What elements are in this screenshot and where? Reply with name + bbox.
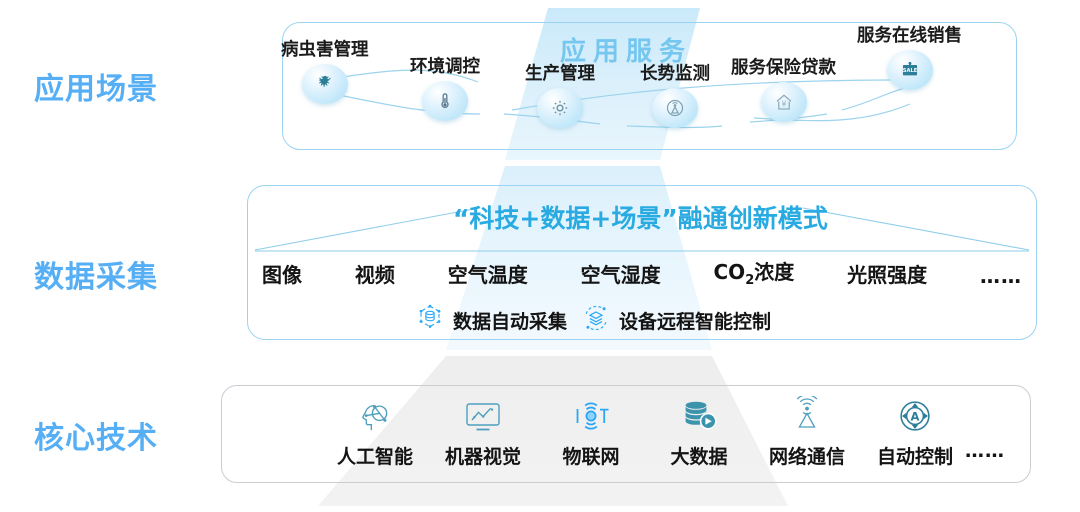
data-features: 数据自动采集 设备远程智能控制 (415, 303, 771, 337)
tech-item-ai[interactable]: 人工智能 (330, 392, 420, 469)
tech-item-label: 自动控制 (877, 442, 953, 469)
scene-node-label: 环境调控 (410, 59, 480, 77)
data-feature-label: 数据自动采集 (453, 307, 567, 334)
scene-node-online-sales[interactable]: 服务在线销售 SALE (857, 28, 962, 90)
data-term: 图像 (262, 259, 302, 288)
tech-items-ellipsis: …… (965, 440, 1005, 462)
tech-item-iot[interactable]: 物联网 (546, 392, 636, 469)
svg-text:SALE: SALE (902, 68, 917, 74)
data-term: 空气温度 (448, 259, 528, 288)
row-label-data: 数据采集 (34, 252, 158, 296)
data-terms-ellipsis: …… (980, 264, 1022, 288)
data-title: “科技+数据+场景”融通创新模式 (453, 199, 828, 235)
scene-node-label: 病虫害管理 (281, 42, 369, 60)
data-term-co2: CO2浓度 (714, 256, 795, 288)
layers-network-icon (581, 303, 611, 337)
tech-item-label: 机器视觉 (445, 442, 521, 469)
tech-item-network-comm[interactable]: 网络通信 (762, 392, 852, 469)
tech-item-label: 网络通信 (769, 442, 845, 469)
thermometer-icon (422, 81, 468, 121)
tech-item-auto-control[interactable]: A 自动控制 (870, 392, 960, 469)
tech-item-big-data[interactable]: 大数据 (654, 392, 744, 469)
tech-items-list: 人工智能 机器视觉 (330, 392, 960, 469)
antenna-icon (785, 392, 829, 440)
tech-item-label: 大数据 (670, 442, 727, 469)
iot-icon (568, 392, 614, 440)
scene-node-production-management[interactable]: 生产管理 (525, 66, 595, 128)
scene-node-label: 服务保险贷款 (731, 60, 836, 78)
ai-head-icon (354, 392, 396, 440)
diagram-root: 应用场景 应用服务 病虫害管理 环境调控 (0, 0, 1080, 512)
data-term: 视频 (355, 259, 395, 288)
scene-node-pest-management[interactable]: 病虫害管理 (281, 42, 369, 104)
scene-node-insurance-loan[interactable]: 服务保险贷款 ¥ (731, 60, 836, 122)
scene-node-label: 生产管理 (525, 66, 595, 84)
row-label-scene: 应用场景 (34, 64, 158, 108)
svg-text:A: A (911, 410, 920, 424)
scene-node-environment-control[interactable]: 环境调控 (410, 59, 480, 121)
scene-title: 应用服务 (560, 31, 692, 68)
row-label-tech: 核心技术 (34, 413, 158, 457)
scene-node-label: 服务在线销售 (857, 28, 962, 46)
scene-node-label: 长势监测 (640, 66, 710, 84)
svg-text:¥: ¥ (781, 99, 786, 108)
auto-control-icon: A (894, 392, 936, 440)
house-yen-icon: ¥ (761, 82, 807, 122)
database-network-icon (415, 303, 445, 337)
data-term: 光照强度 (847, 259, 927, 288)
tech-item-machine-vision[interactable]: 机器视觉 (438, 392, 528, 469)
tech-item-label: 人工智能 (337, 442, 413, 469)
sale-tag-icon: SALE (887, 50, 933, 90)
data-term: 空气湿度 (581, 259, 661, 288)
data-feature-label: 设备远程智能控制 (619, 307, 771, 334)
monitor-chart-icon (461, 392, 505, 440)
gear-icon (537, 88, 583, 128)
scene-node-growth-monitoring[interactable]: 长势监测 (640, 66, 710, 128)
data-feature-auto-collection[interactable]: 数据自动采集 (415, 303, 567, 337)
bug-icon (302, 64, 348, 104)
big-data-icon (678, 392, 720, 440)
data-terms-list: 图像 视频 空气温度 空气湿度 CO2浓度 光照强度 …… (262, 256, 1022, 288)
signal-tower-icon (652, 88, 698, 128)
data-feature-remote-control[interactable]: 设备远程智能控制 (581, 303, 771, 337)
tech-item-label: 物联网 (562, 442, 619, 469)
